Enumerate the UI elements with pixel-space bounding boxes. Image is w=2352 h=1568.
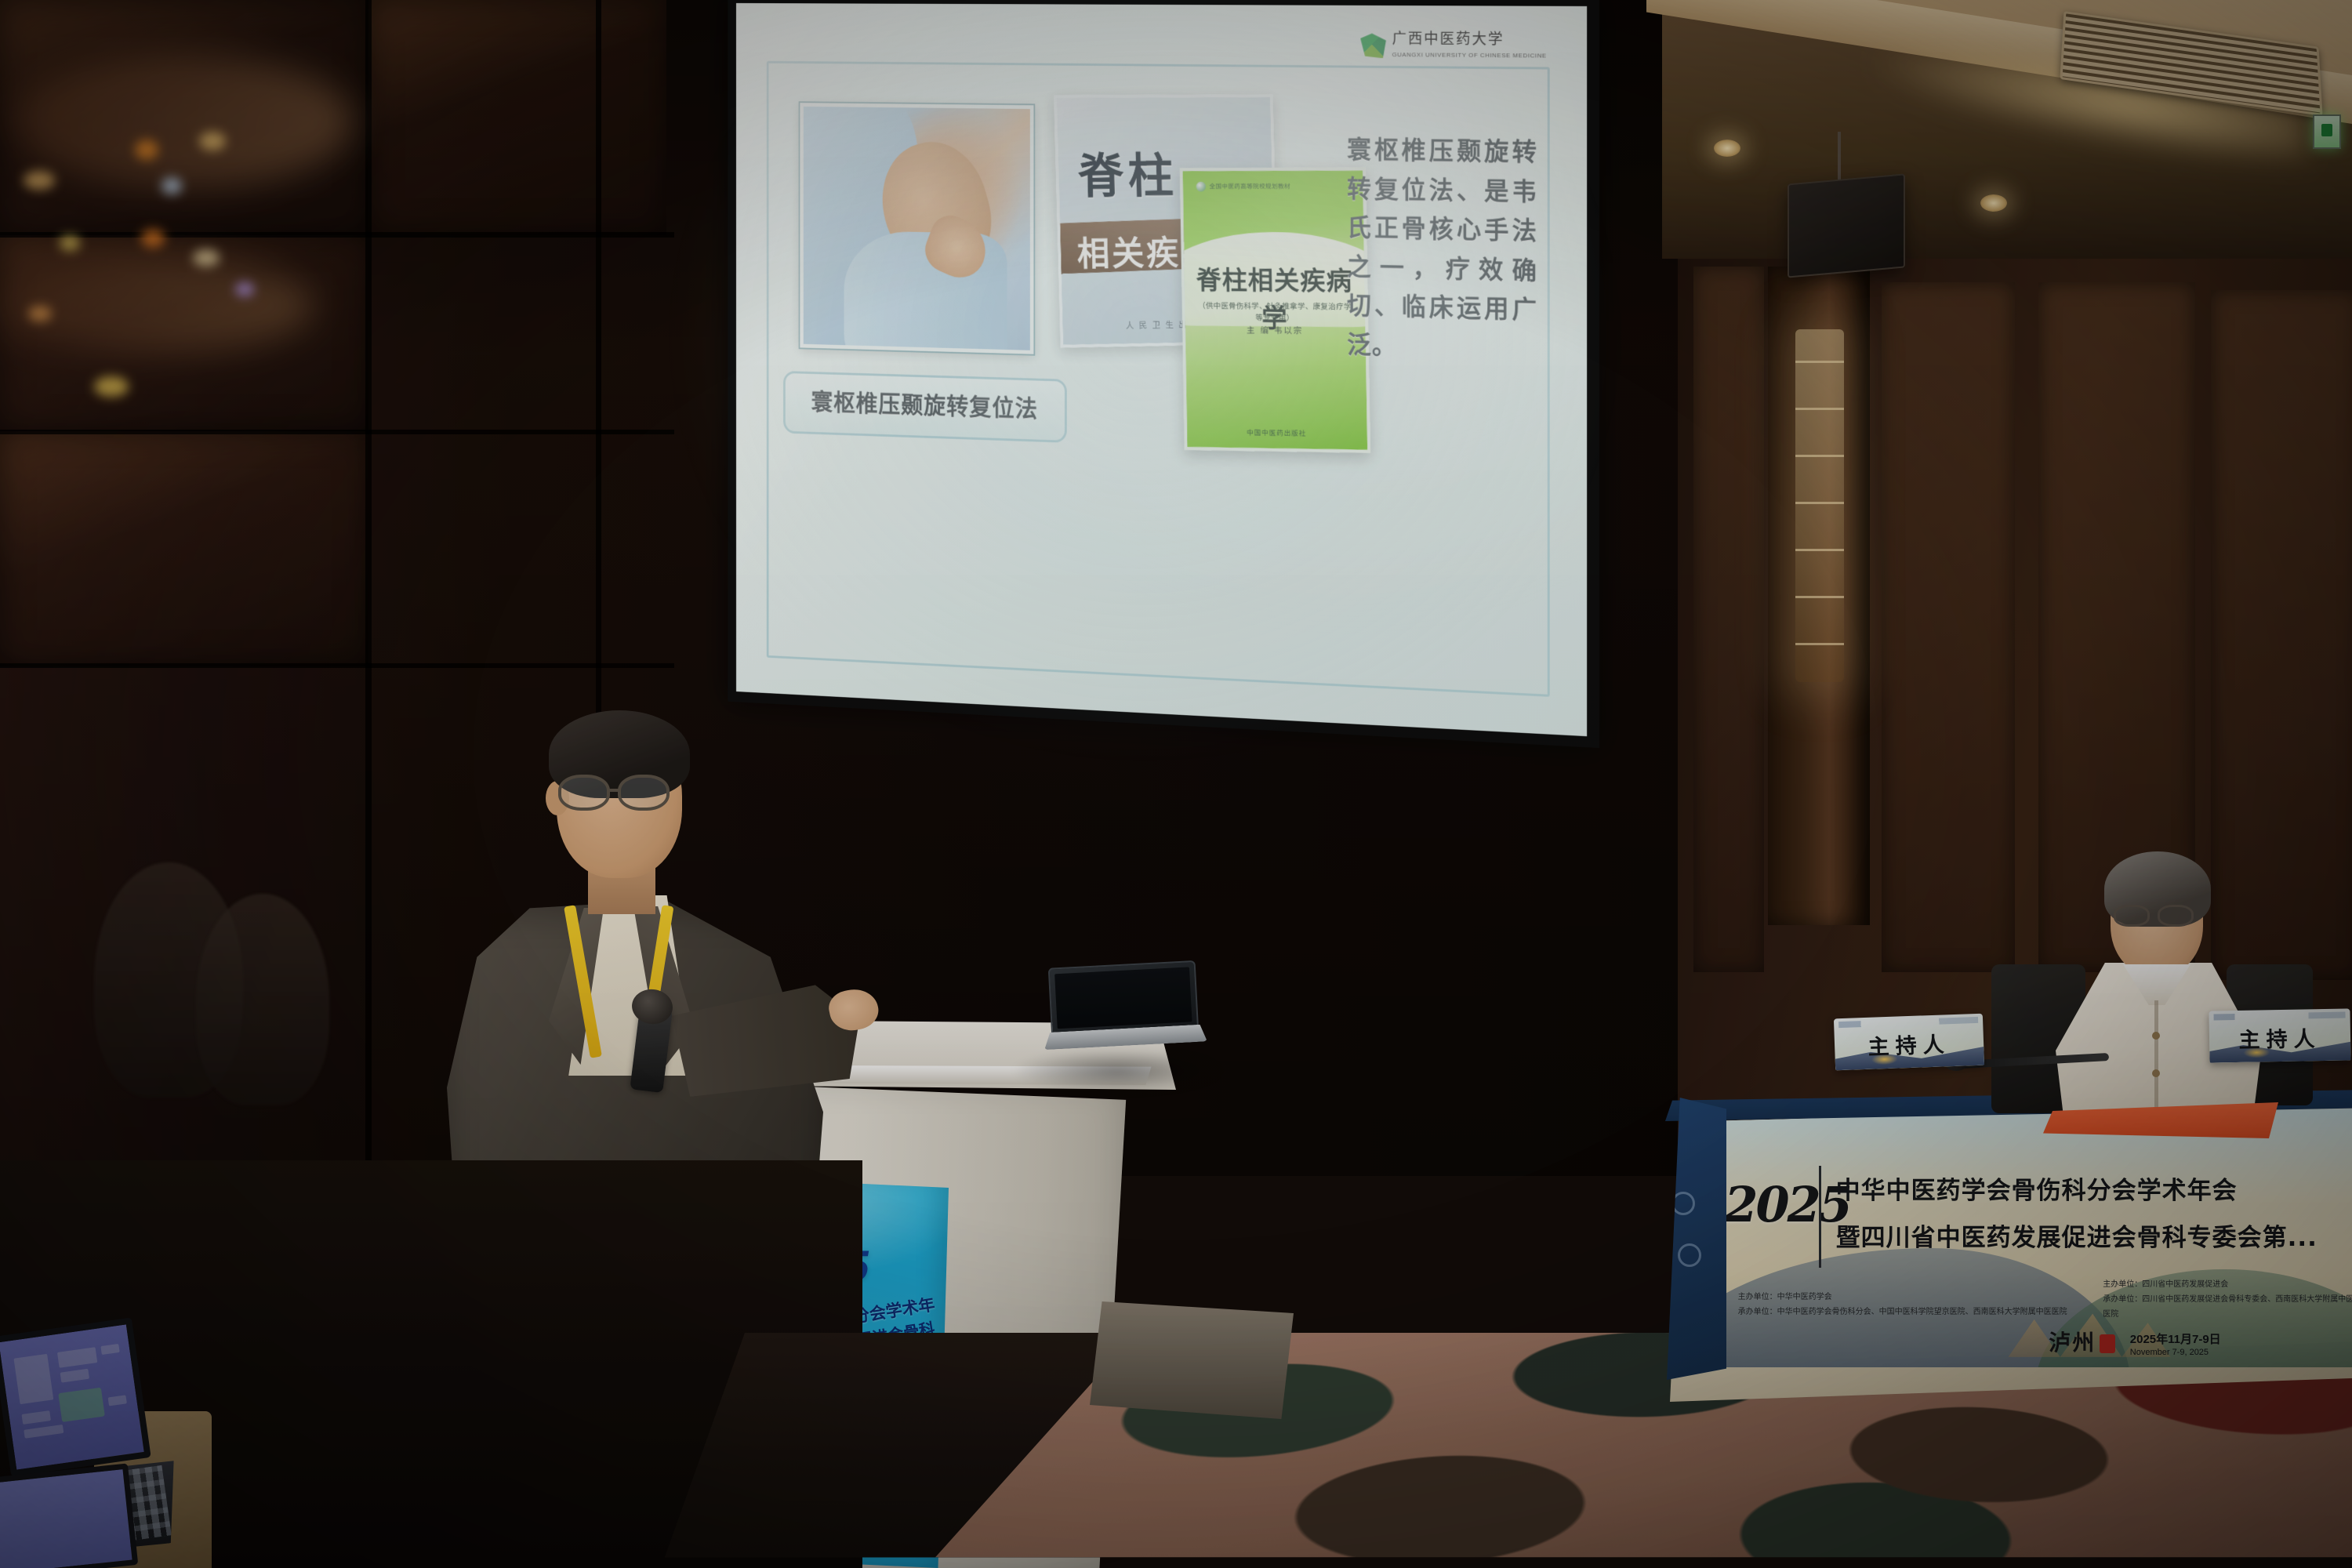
speaker-mount-pole bbox=[1838, 132, 1841, 187]
bokeh-light bbox=[60, 235, 80, 251]
screen-surface: 广西中医药大学 GUANGXI UNIVERSITY OF CHINESE ME… bbox=[736, 3, 1587, 736]
bokeh-light bbox=[141, 229, 165, 248]
ceiling-speaker bbox=[1788, 173, 1905, 278]
ceiling-downlight bbox=[1980, 194, 2007, 212]
name-card-label: 主持人 bbox=[1834, 1026, 1984, 1062]
conference-hall-scene: 广西中医药大学 GUANGXI UNIVERSITY OF CHINESE ME… bbox=[0, 0, 2352, 1568]
table-navy-left-panel bbox=[1667, 1098, 1726, 1380]
backdrop-divider-rule bbox=[1819, 1166, 1821, 1268]
moderator-shirt-placket bbox=[2154, 1000, 2158, 1118]
book2-series-label: 全国中医药高等院校规划教材 bbox=[1210, 182, 1290, 191]
backdrop-year: 2025 bbox=[1724, 1176, 1850, 1233]
organizer-coorg-left: 承办单位：中华中医药学会骨伤科分会、中国中医科学院望京医院、西南医科大学附属中医… bbox=[1738, 1308, 2067, 1316]
laptop-1-screen[interactable] bbox=[0, 1317, 151, 1476]
wall-seam-h1 bbox=[0, 232, 674, 238]
presenter-glasses-icon bbox=[558, 775, 682, 811]
projection-screen: 广西中医药大学 GUANGXI UNIVERSITY OF CHINESE ME… bbox=[728, 0, 1599, 748]
book2-publisher: 中国中医药出版社 bbox=[1187, 426, 1367, 439]
wall-panel-gloss-4 bbox=[368, 0, 666, 235]
table-skirt: 2025 中华中医药学会骨伤科分会学术年会 暨四川省中医药发展促进会骨科专委会第… bbox=[1670, 1104, 2352, 1402]
bokeh-light bbox=[24, 171, 55, 190]
wall-seam-h2 bbox=[0, 430, 674, 434]
name-card-label: 主持人 bbox=[2209, 1021, 2351, 1054]
bokeh-light bbox=[135, 140, 158, 160]
date-en: November 7-9, 2025 bbox=[2130, 1348, 2221, 1359]
backdrop-title-line2: 暨四川省中医药发展促进会骨科专委会第... bbox=[1836, 1218, 2318, 1253]
name-card-moderator-1: 主持人 bbox=[1834, 1014, 1984, 1071]
backdrop-organizers-left: 主办单位：中华中医药学会 承办单位：中华中医药学会骨伤科分会、中国中医科学院望京… bbox=[1738, 1290, 2067, 1319]
university-name-cn: 广西中医药大学 bbox=[1392, 31, 1504, 49]
laptop-2-screen[interactable] bbox=[0, 1463, 138, 1568]
wall-seam-v1 bbox=[365, 0, 372, 1176]
university-leaf-logo-icon bbox=[1360, 34, 1386, 59]
decorative-ring-icon bbox=[1678, 1243, 1701, 1267]
bokeh-light bbox=[162, 177, 182, 194]
backdrop-organizers-right: 主办单位：四川省中医药发展促进会 承办单位：四川省中医药发展促进会骨科专委会、西… bbox=[2103, 1277, 2352, 1322]
city-label: 泸州 bbox=[2049, 1330, 2096, 1356]
presenter-laptop[interactable] bbox=[1040, 960, 1203, 1070]
seated-moderator bbox=[2038, 847, 2274, 1105]
bokeh-light bbox=[199, 132, 226, 151]
book2-editor: 主 编 韦以宗 bbox=[1185, 324, 1366, 337]
name-card-header-strip bbox=[2214, 1012, 2346, 1021]
bokeh-light bbox=[193, 249, 220, 267]
foreground-laptop-2[interactable] bbox=[0, 1463, 138, 1568]
head-table: 2025 中华中医药学会骨伤科分会学术年会 暨四川省中医药发展促进会骨科专委会第… bbox=[1670, 1090, 2352, 1435]
wall-panel-gloss-3 bbox=[0, 431, 368, 666]
slide-body-text: 寰枢椎压颞旋转转复位法、是韦氏正骨核心手法之一，疗效确切、临床运用广泛。 bbox=[1347, 130, 1537, 369]
slide-caption-box: 寰枢椎压颞旋转复位法 bbox=[783, 371, 1067, 443]
backdrop-city-name: 泸州 bbox=[2049, 1326, 2115, 1357]
backdrop-title-line1: 中华中医药学会骨伤科分会学术年会 bbox=[1836, 1171, 2238, 1206]
table-front-backdrop: 2025 中华中医药学会骨伤科分会学术年会 暨四川省中医药发展促进会骨科专委会第… bbox=[1684, 1109, 2352, 1367]
bokeh-light bbox=[94, 376, 129, 397]
clinical-technique-photo bbox=[800, 103, 1033, 354]
right-wall-panel-2 bbox=[1882, 282, 2015, 972]
audience-silhouette bbox=[196, 894, 329, 1105]
date-cn: 2025年11月7-9日 bbox=[2130, 1333, 2221, 1346]
book2-subtitle: （供中医骨伤科学、针灸推拿学、康复治疗学等专业用） bbox=[1195, 299, 1355, 324]
backdrop-date: 2025年11月7-9日 November 7-9, 2025 bbox=[2130, 1333, 2221, 1359]
wall-seam-h3 bbox=[0, 663, 674, 668]
wall-reflection-band bbox=[16, 55, 353, 188]
right-wall-panel-1 bbox=[1693, 267, 1764, 972]
organizer-coorg-right: 承办单位：四川省中医药发展促进会骨科专委会、西南医科大学附属中医医院 bbox=[2103, 1295, 2352, 1319]
shirt-button bbox=[2152, 1069, 2160, 1077]
laptop-lid bbox=[1048, 960, 1199, 1036]
slide-content: 广西中医药大学 GUANGXI UNIVERSITY OF CHINESE ME… bbox=[754, 23, 1564, 712]
bokeh-light bbox=[28, 306, 52, 321]
name-card-moderator-2: 主持人 bbox=[2209, 1008, 2350, 1062]
wall-reflection-band-2 bbox=[0, 259, 314, 353]
book-cover-2: 全国中医药高等院校规划教材 脊柱相关疾病学 （供中医骨伤科学、针灸推拿学、康复治… bbox=[1180, 167, 1370, 452]
wall-sconce-light bbox=[1795, 329, 1844, 682]
ceiling-downlight bbox=[1714, 140, 1740, 157]
moderator-glasses-icon bbox=[2114, 905, 2201, 927]
decorative-ring-icon bbox=[1671, 1192, 1695, 1215]
slide-caption-text: 寰枢椎压颞旋转复位法 bbox=[811, 389, 1038, 423]
stage-step bbox=[1090, 1301, 1294, 1419]
organizer-host-right: 主办单位：四川省中医药发展促进会 bbox=[2103, 1280, 2228, 1289]
shirt-button bbox=[2152, 1032, 2160, 1040]
book2-series-icon bbox=[1196, 182, 1206, 192]
city-seal-icon bbox=[2100, 1334, 2115, 1353]
organizer-host-left: 主办单位：中华中医药学会 bbox=[1738, 1293, 1832, 1301]
exit-sign bbox=[2313, 114, 2341, 149]
book1-title-line1: 脊柱 bbox=[1077, 137, 1179, 207]
university-name-en: GUANGXI UNIVERSITY OF CHINESE MEDICINE bbox=[1392, 51, 1547, 59]
book2-series-badge: 全国中医药高等院校规划教材 bbox=[1196, 181, 1290, 191]
bokeh-light bbox=[235, 282, 254, 296]
slide-university-logo: 广西中医药大学 GUANGXI UNIVERSITY OF CHINESE ME… bbox=[1360, 31, 1547, 61]
laptop-screen[interactable] bbox=[1054, 967, 1192, 1029]
